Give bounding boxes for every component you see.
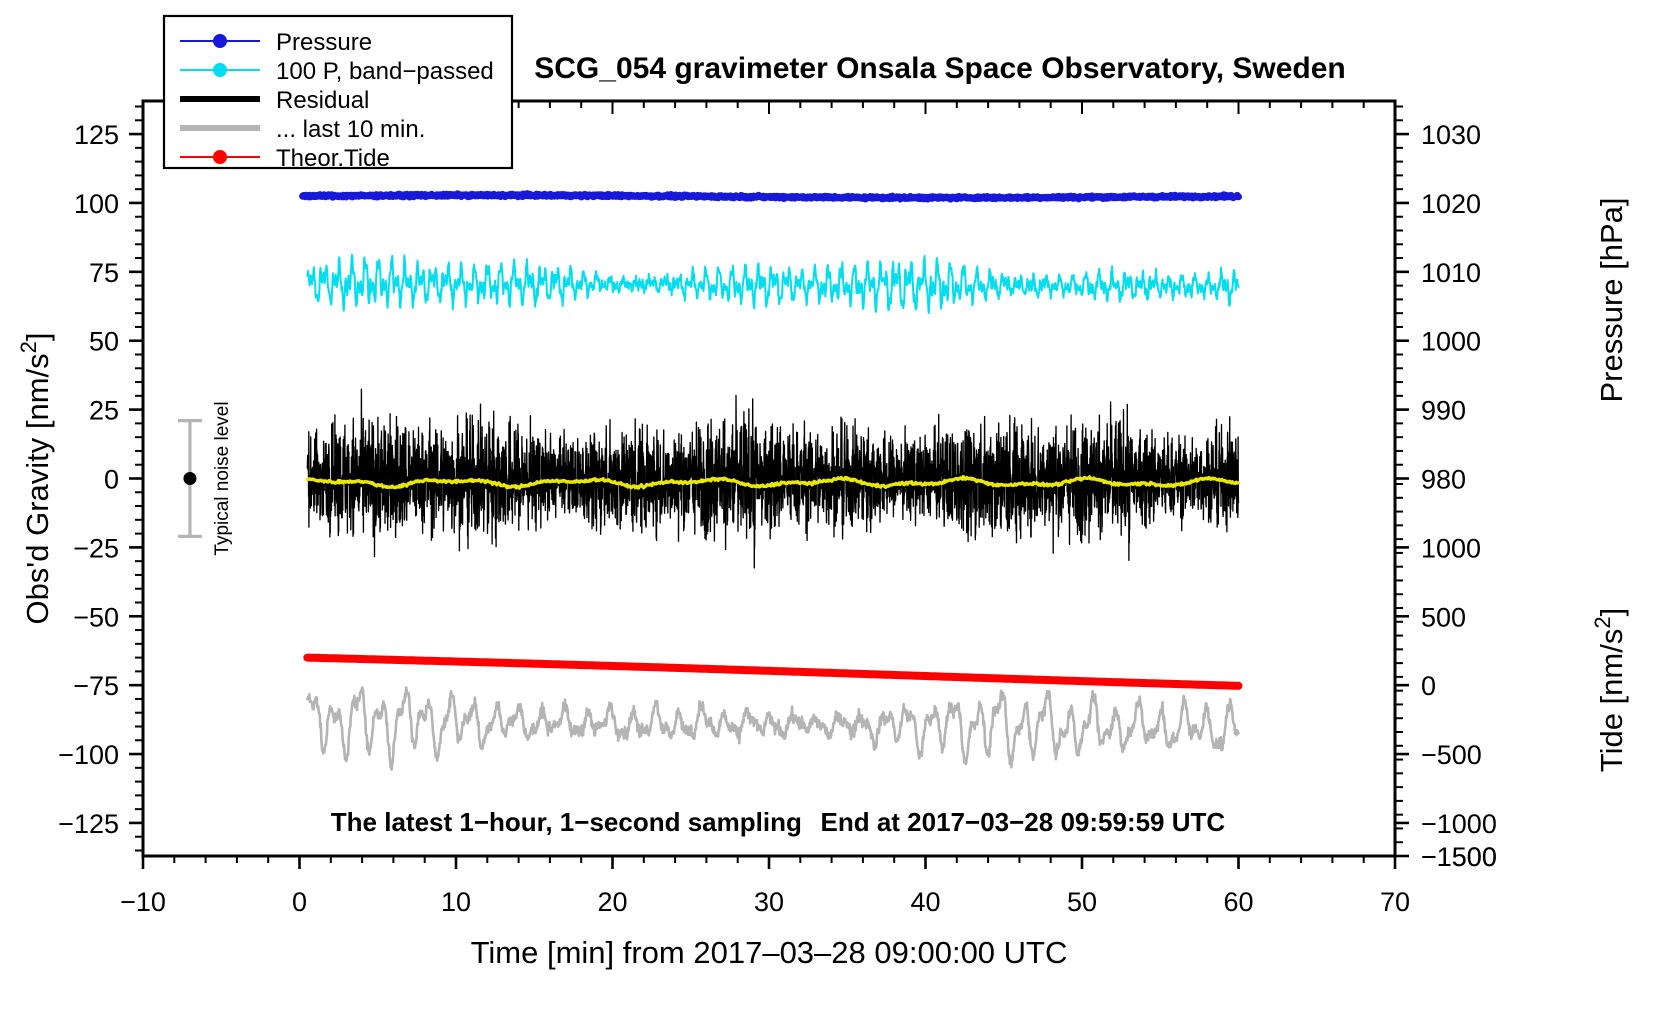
legend-item-label: Residual — [276, 87, 369, 114]
pressure-axis-title: Pressure [hPa] — [1594, 197, 1629, 402]
legend-swatch-marker — [213, 63, 227, 77]
svg-text:980: 980 — [1421, 465, 1466, 495]
svg-text:990: 990 — [1421, 396, 1466, 426]
tide-axis-title: Tide [nm/s2] — [1590, 608, 1629, 772]
svg-text:75: 75 — [89, 258, 119, 288]
svg-text:0: 0 — [1421, 671, 1436, 701]
svg-text:Obs'd Gravity [nm/s2]: Obs'd Gravity [nm/s2] — [16, 332, 55, 624]
legend-item-label: 100 P, band−passed — [276, 58, 494, 85]
end-time-note: End at 2017−03−28 09:59:59 UTC — [821, 807, 1226, 837]
svg-text:Tide [nm/s2]: Tide [nm/s2] — [1590, 608, 1629, 772]
svg-text:−1000: −1000 — [1421, 809, 1497, 839]
gravimeter-timeseries-chart: −10010203040506070 1251007550250−25−50−7… — [0, 0, 1660, 1020]
legend-item-label: Pressure — [276, 29, 372, 56]
svg-text:1010: 1010 — [1421, 258, 1481, 288]
svg-text:20: 20 — [597, 887, 627, 917]
svg-text:50: 50 — [1067, 887, 1097, 917]
svg-text:−500: −500 — [1421, 740, 1482, 770]
svg-text:−25: −25 — [73, 533, 119, 563]
chart-title: SCG_054 gravimeter Onsala Space Observat… — [534, 52, 1346, 85]
svg-text:−100: −100 — [58, 740, 119, 770]
svg-text:50: 50 — [89, 327, 119, 357]
legend-swatch-marker — [213, 34, 227, 48]
svg-text:60: 60 — [1223, 887, 1253, 917]
legend-item-label: ... last 10 min. — [276, 116, 425, 143]
svg-text:30: 30 — [754, 887, 784, 917]
svg-text:1020: 1020 — [1421, 189, 1481, 219]
legend-swatch-marker — [213, 150, 227, 164]
svg-text:10: 10 — [441, 887, 471, 917]
svg-text:−10: −10 — [120, 887, 166, 917]
svg-text:−75: −75 — [73, 671, 119, 701]
noise-level-label: Typical noise level — [212, 401, 233, 555]
svg-text:40: 40 — [910, 887, 940, 917]
legend-box[interactable]: Pressure100 P, band−passedResidual... la… — [164, 16, 512, 172]
svg-text:100: 100 — [74, 189, 119, 219]
svg-text:25: 25 — [89, 396, 119, 426]
svg-text:Pressure [hPa]: Pressure [hPa] — [1594, 197, 1629, 402]
svg-text:1000: 1000 — [1421, 533, 1481, 563]
svg-text:0: 0 — [292, 887, 307, 917]
chart-page: −10010203040506070 1251007550250−25−50−7… — [0, 0, 1660, 1020]
y-axis-title: Obs'd Gravity [nm/s2] — [16, 332, 55, 624]
legend-item-label: Theor.Tide — [276, 145, 390, 172]
series-pressure — [303, 194, 1239, 200]
svg-text:0: 0 — [104, 465, 119, 495]
svg-text:−125: −125 — [58, 809, 119, 839]
sampling-note: The latest 1−hour, 1−second sampling — [331, 807, 802, 837]
svg-text:70: 70 — [1380, 887, 1410, 917]
svg-text:125: 125 — [74, 120, 119, 150]
x-axis-title: Time [min] from 2017‒03‒28 09:00:00 UTC — [471, 935, 1068, 970]
svg-text:−1500: −1500 — [1421, 842, 1497, 872]
svg-text:1000: 1000 — [1421, 327, 1481, 357]
svg-text:1030: 1030 — [1421, 120, 1481, 150]
svg-text:−50: −50 — [73, 602, 119, 632]
svg-text:500: 500 — [1421, 602, 1466, 632]
noise-center-dot — [183, 472, 196, 485]
